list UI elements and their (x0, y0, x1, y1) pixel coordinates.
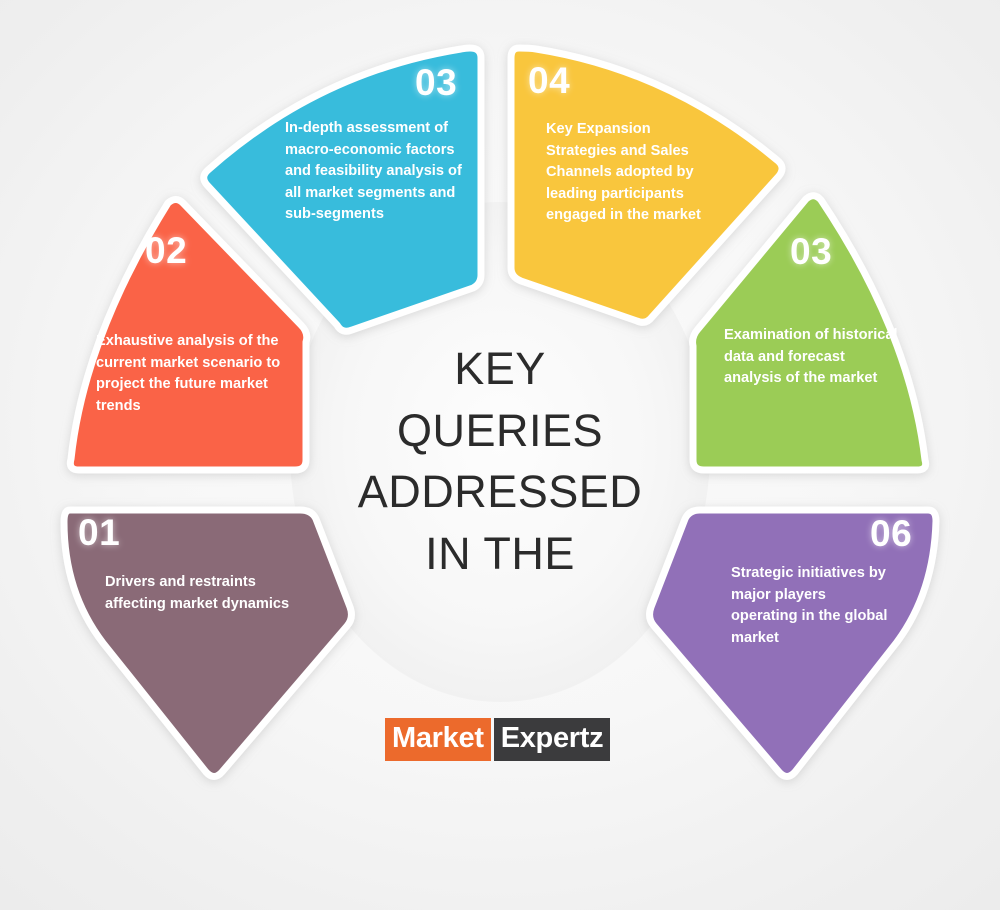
market-expertz-logo[interactable]: Market Expertz (385, 718, 610, 761)
segment-text-06: Strategic initiatives by major players o… (731, 563, 891, 649)
segment-text-01: Drivers and restraints affecting market … (105, 572, 305, 615)
segment-number-04: 04 (528, 62, 570, 99)
segment-number-01: 01 (78, 514, 120, 551)
page-title: KEY QUERIES ADDRESSED IN THE (330, 338, 670, 585)
segment-number-02: 02 (145, 232, 187, 269)
logo-text-expertz: Expertz (494, 718, 611, 761)
segment-number-06: 06 (870, 515, 912, 552)
segment-number-03a: 03 (415, 64, 457, 101)
segment-number-03b: 03 (790, 233, 832, 270)
infographic-canvas: 01 02 03 04 03 06 Drivers and restraints… (0, 0, 1000, 910)
segment-text-02: Exhaustive analysis of the current marke… (96, 331, 301, 417)
logo-text-market: Market (385, 718, 491, 761)
segment-text-04: Key Expansion Strategies and Sales Chann… (546, 119, 711, 227)
segment-text-03a: In-depth assessment of macro-economic fa… (285, 118, 475, 226)
segment-text-03b: Examination of historical data and forec… (724, 325, 899, 390)
